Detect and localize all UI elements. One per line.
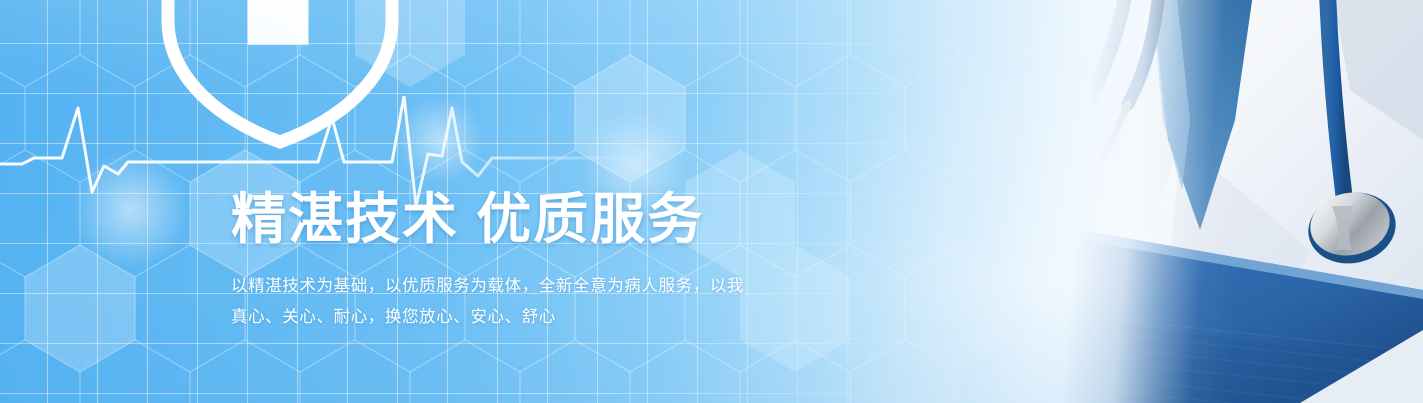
banner-text-block: 精湛技术 优质服务 以精湛技术为基础，以优质服务为载体，全新全意为病人服务，以我… <box>231 186 791 333</box>
medical-shield-emblem <box>150 0 410 158</box>
banner-headline: 精湛技术 优质服务 <box>231 186 791 252</box>
medical-cross <box>200 0 356 45</box>
medical-hero-banner: 精湛技术 优质服务 以精湛技术为基础，以优质服务为载体，全新全意为病人服务，以我… <box>0 0 1423 403</box>
banner-subtitle: 以精湛技术为基础，以优质服务为载体，全新全意为病人服务，以我真心、关心、耐心，换… <box>231 252 759 333</box>
